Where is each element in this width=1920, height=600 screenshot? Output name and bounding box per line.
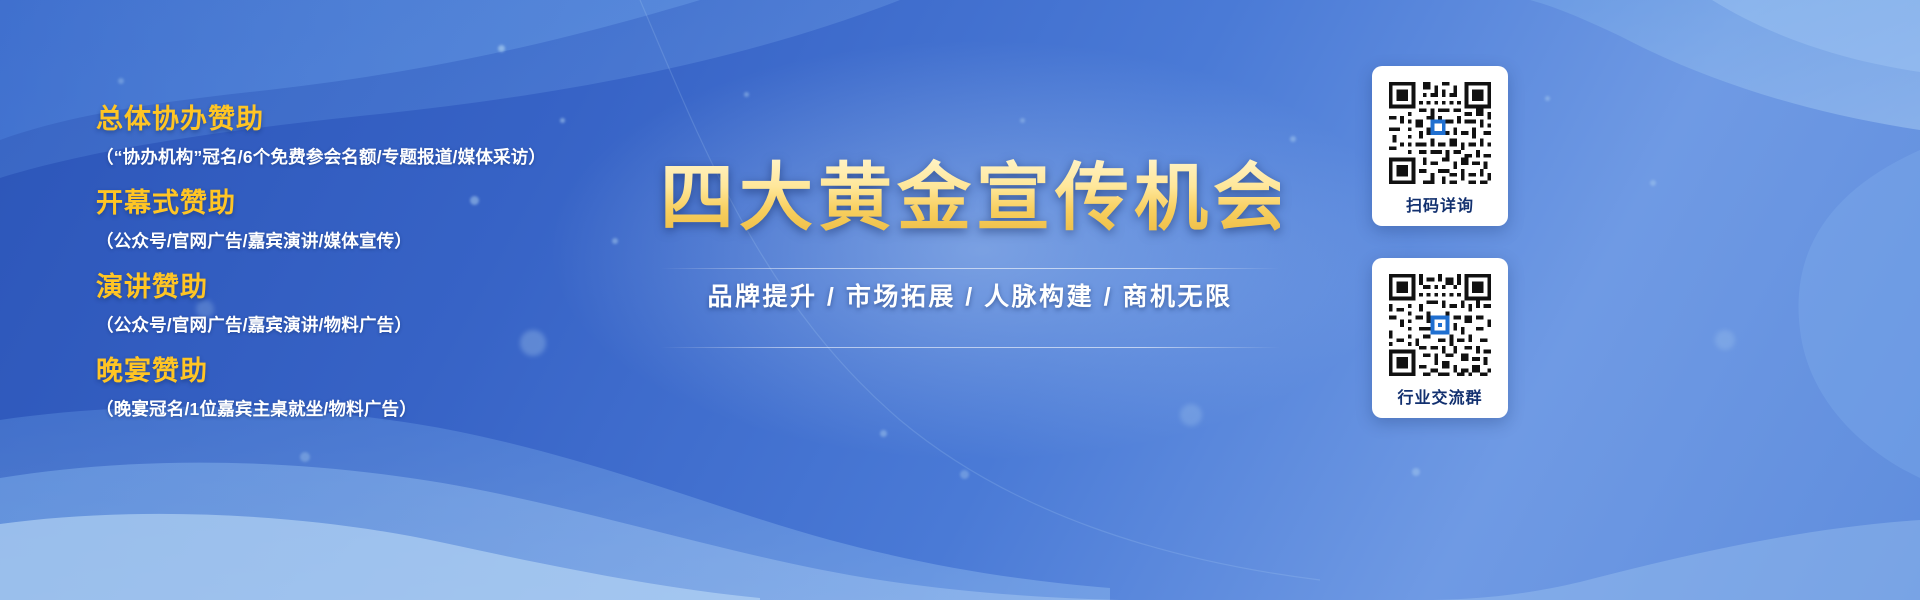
qr-card-industry-group[interactable]: 行业交流群	[1372, 258, 1508, 418]
qr-card-consult[interactable]: 扫码详询	[1372, 66, 1508, 226]
qr-code-icon	[1385, 270, 1495, 380]
sponsor-tier: 演讲赞助 （公众号/官网广告/嘉宾演讲/物料广告）	[96, 266, 736, 342]
qr-code-icon	[1385, 78, 1495, 188]
sponsor-tier-detail: （公众号/官网广告/嘉宾演讲/物料广告）	[96, 308, 736, 342]
sponsor-tier: 总体协办赞助 （“协办机构”冠名/6个免费参会名额/专题报道/媒体采访）	[96, 98, 736, 174]
sponsor-tier-title: 演讲赞助	[96, 266, 736, 308]
headline-block: 四大黄金宣传机会 品牌提升 / 市场拓展 / 人脉构建 / 商机无限	[660, 150, 1280, 348]
sponsor-tier-title: 开幕式赞助	[96, 182, 736, 224]
sponsor-tier: 开幕式赞助 （公众号/官网广告/嘉宾演讲/媒体宣传）	[96, 182, 736, 258]
promo-banner: 总体协办赞助 （“协办机构”冠名/6个免费参会名额/专题报道/媒体采访） 开幕式…	[0, 0, 1920, 600]
qr-card-label: 扫码详询	[1406, 197, 1474, 217]
sponsor-tier-title: 总体协办赞助	[96, 98, 736, 140]
headline-divider-bottom	[660, 347, 1280, 348]
sponsor-tier-list: 总体协办赞助 （“协办机构”冠名/6个免费参会名额/专题报道/媒体采访） 开幕式…	[96, 98, 736, 434]
headline-subtitle: 品牌提升 / 市场拓展 / 人脉构建 / 商机无限	[660, 269, 1280, 325]
sponsor-tier-detail: （“协办机构”冠名/6个免费参会名额/专题报道/媒体采访）	[96, 140, 736, 174]
headline-title: 四大黄金宣传机会	[660, 150, 1280, 246]
sponsor-tier-title: 晚宴赞助	[96, 350, 736, 392]
sponsor-tier-detail: （公众号/官网广告/嘉宾演讲/媒体宣传）	[96, 224, 736, 258]
sponsor-tier-detail: （晚宴冠名/1位嘉宾主桌就坐/物料广告）	[96, 392, 736, 426]
sponsor-tier: 晚宴赞助 （晚宴冠名/1位嘉宾主桌就坐/物料广告）	[96, 350, 736, 426]
qr-card-label: 行业交流群	[1397, 389, 1482, 409]
